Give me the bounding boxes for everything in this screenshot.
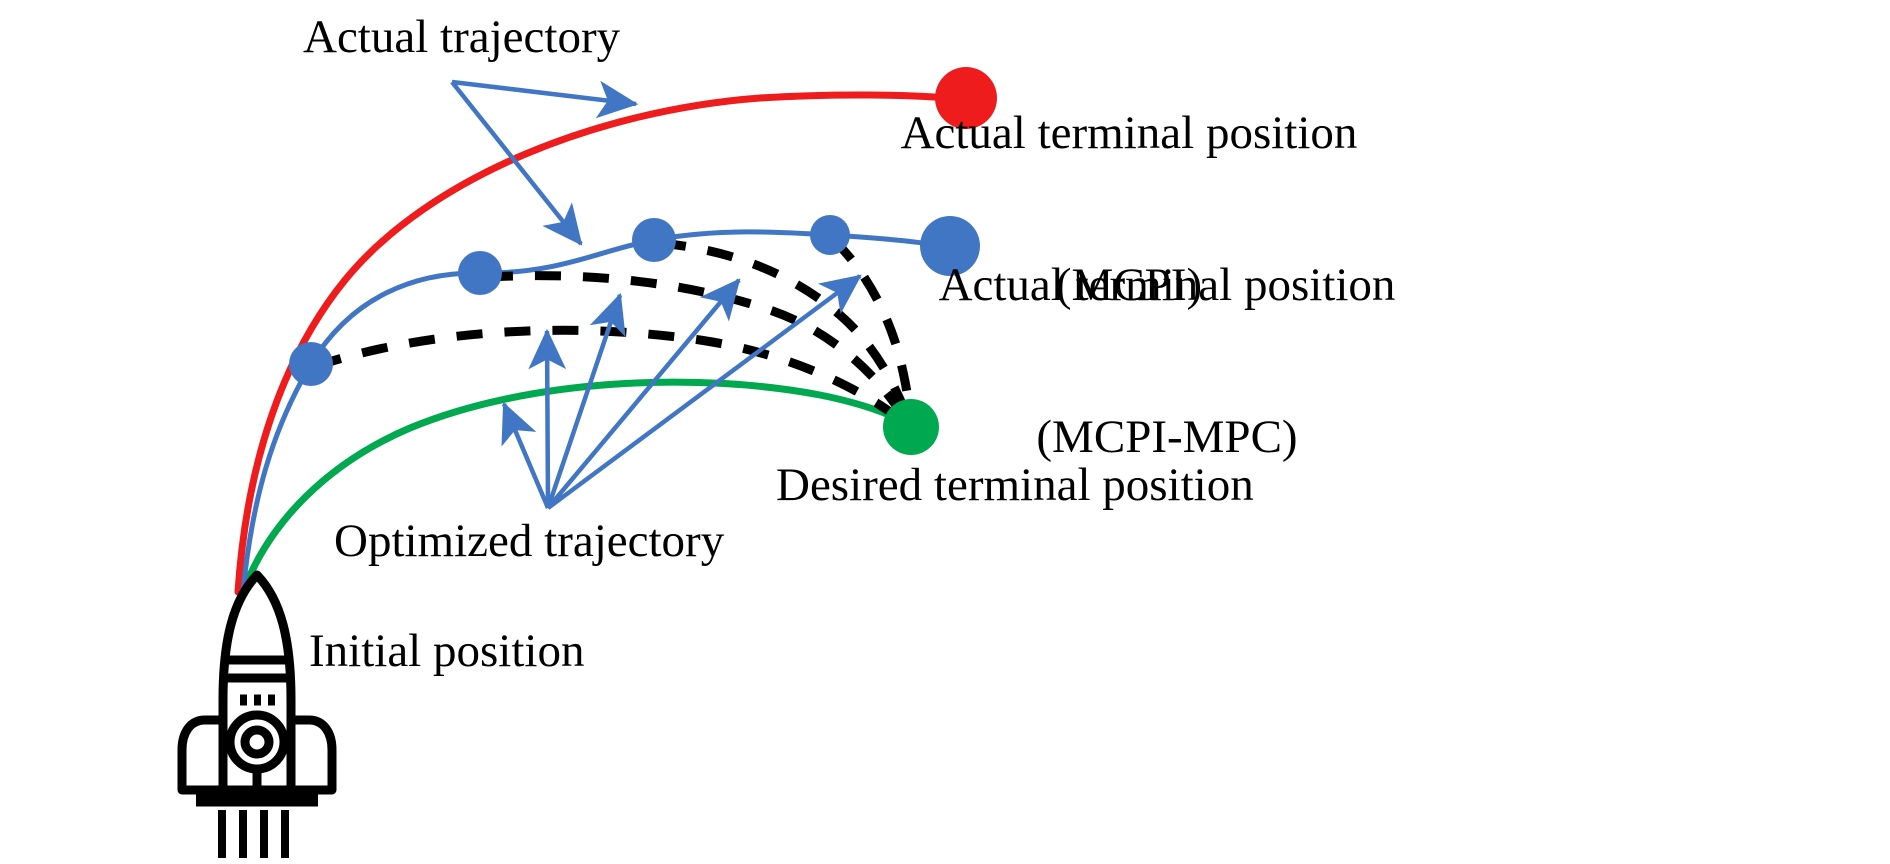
label-actual-terminal-mcpi-mpc-line1: Actual terminal position <box>897 260 1437 311</box>
waypoint-2 <box>458 251 502 295</box>
optimized-curve-1 <box>316 330 905 423</box>
label-desired-terminal-position: Desired terminal position <box>776 460 1254 511</box>
label-initial-position: Initial position <box>309 626 584 677</box>
arrow-optimized-4 <box>548 280 739 508</box>
arrows-actual-trajectory <box>452 82 636 244</box>
label-actual-trajectory: Actual trajectory <box>303 12 620 63</box>
label-actual-terminal-mcpi-mpc-line2: (MCPI-MPC) <box>897 412 1437 463</box>
diagram-canvas: Actual trajectory Actual terminal positi… <box>0 0 1890 864</box>
arrow-actual-to-blue <box>452 82 581 244</box>
label-optimized-trajectory: Optimized trajectory <box>334 516 724 567</box>
waypoint-1 <box>289 342 333 386</box>
waypoint-4 <box>810 215 850 255</box>
arrow-actual-to-red <box>452 82 636 104</box>
arrow-optimized-2 <box>547 331 548 508</box>
label-actual-terminal-mcpi-line1: Actual terminal position <box>869 108 1389 159</box>
rocket-icon <box>182 575 332 858</box>
arrow-optimized-1 <box>504 404 548 508</box>
waypoint-3 <box>632 218 676 262</box>
